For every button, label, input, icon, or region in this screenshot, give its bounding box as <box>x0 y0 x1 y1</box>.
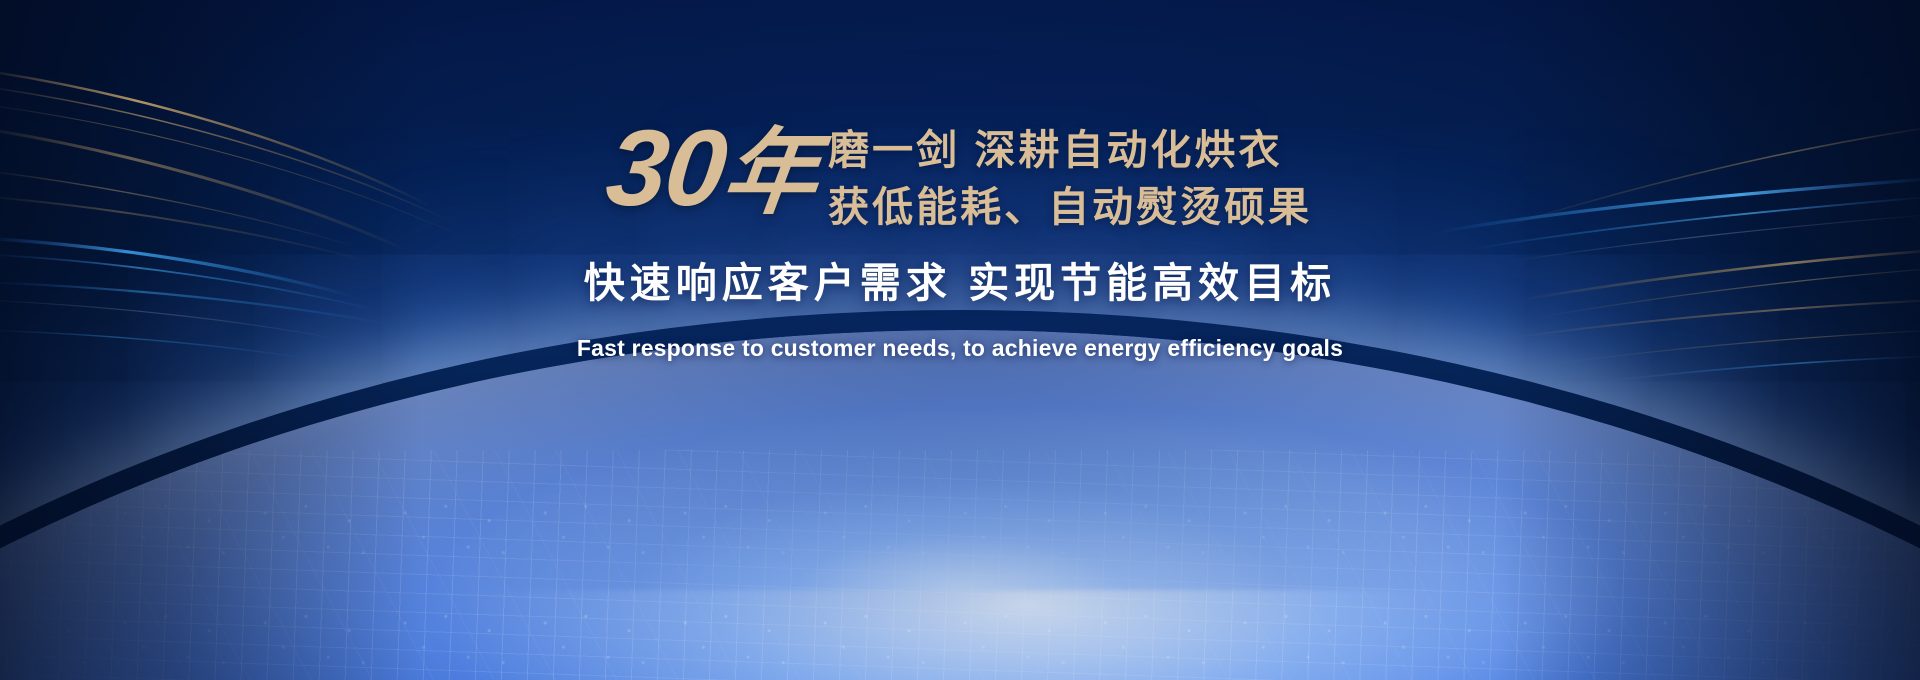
gold-headline-line-1: 磨一剑 深耕自动化烘衣 <box>828 122 1312 179</box>
promo-banner: 30年 磨一剑 深耕自动化烘衣 获低能耗、自动熨烫硕果 快速响应客户需求 实现节… <box>0 0 1920 680</box>
banner-copy: 30年 磨一剑 深耕自动化烘衣 获低能耗、自动熨烫硕果 快速响应客户需求 实现节… <box>0 0 1920 362</box>
gold-headline-line-2: 获低能耗、自动熨烫硕果 <box>828 179 1312 236</box>
headline-row: 30年 磨一剑 深耕自动化烘衣 获低能耗、自动熨烫硕果 <box>0 116 1920 235</box>
years-number: 30 <box>601 107 732 228</box>
years-badge: 30年 <box>602 116 827 220</box>
years-unit: 年 <box>717 120 824 225</box>
subheadline-english: Fast response to customer needs, to achi… <box>0 335 1920 362</box>
subheadline-chinese: 快速响应客户需求 实现节能高效目标 <box>0 249 1920 309</box>
gold-headline-lines: 磨一剑 深耕自动化烘衣 获低能耗、自动熨烫硕果 <box>828 116 1312 235</box>
